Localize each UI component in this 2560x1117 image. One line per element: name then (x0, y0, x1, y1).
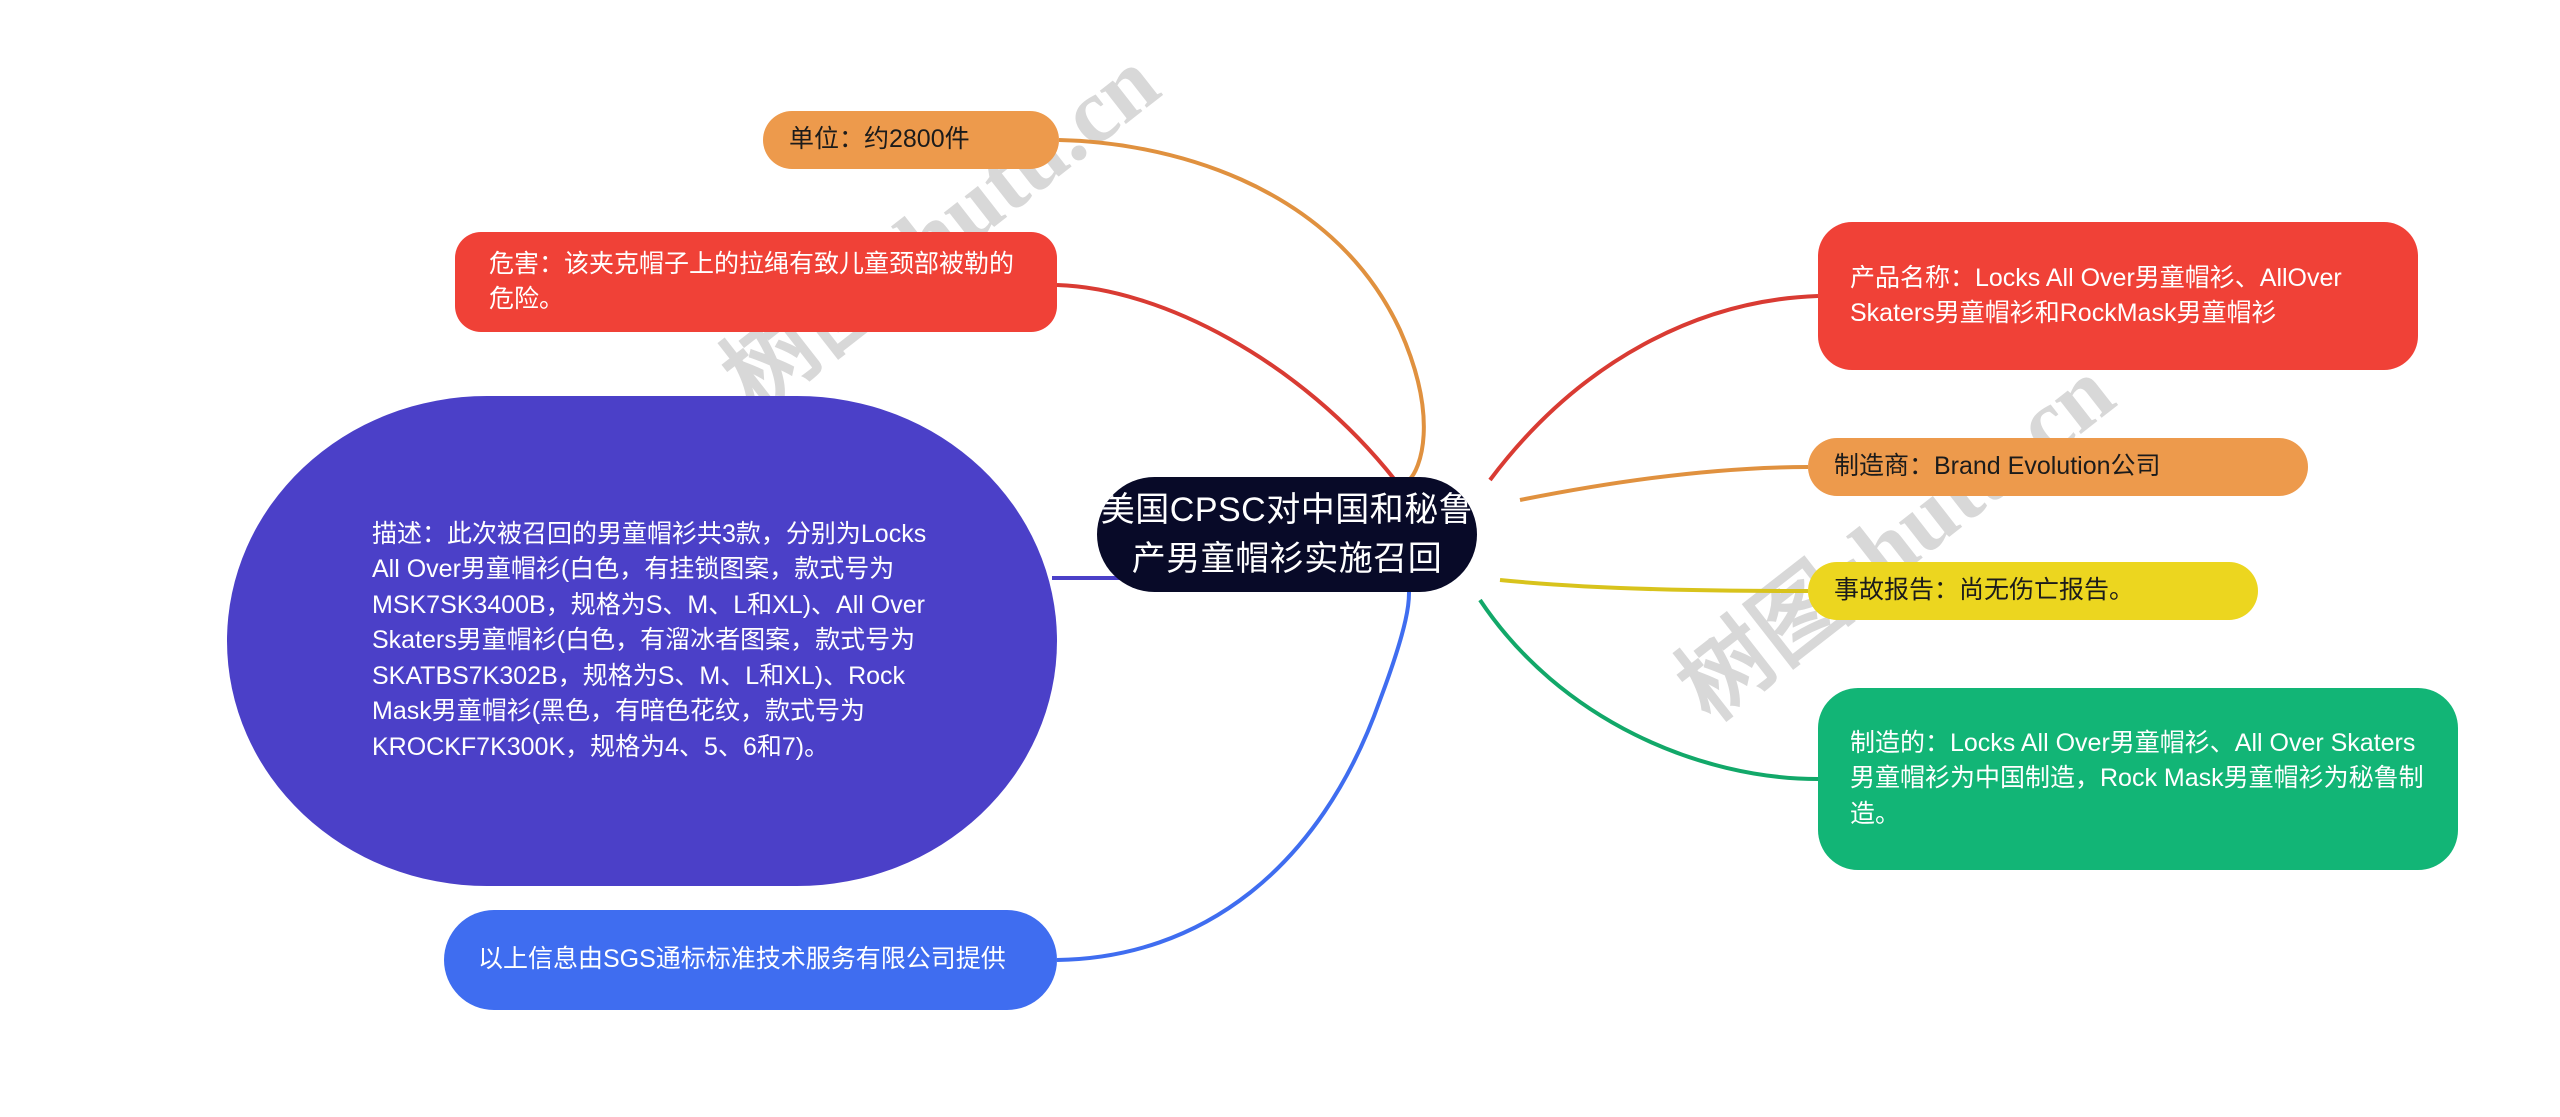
watermark-left: 树图shutu.cn (690, 11, 1181, 435)
branch-node-manufacturer-label: 制造商：Brand Evolution公司 (1834, 449, 2282, 485)
branch-node-source-label: 以上信息由SGS通标标准技术服务有限公司提供 (478, 942, 1023, 978)
branch-node-hazard[interactable]: 危害：该夹克帽子上的拉绳有致儿童颈部被勒的危险。 (455, 232, 1057, 332)
mindmap-canvas: 树图shutu.cn 树图shutu.cn 美国CPSC对中国和秘鲁产男童帽衫实… (0, 0, 2560, 1117)
branch-node-incident-report-label: 事故报告：尚无伤亡报告。 (1834, 573, 2232, 609)
edge-root-to-source (1057, 592, 1409, 960)
edge-root-to-manufacturer (1520, 467, 1808, 500)
branch-node-hazard-label: 危害：该夹克帽子上的拉绳有致儿童颈部被勒的危险。 (489, 247, 1023, 318)
branch-node-manufacturer[interactable]: 制造商：Brand Evolution公司 (1808, 438, 2308, 496)
branch-node-units[interactable]: 单位：约2800件 (763, 111, 1059, 169)
branch-node-source[interactable]: 以上信息由SGS通标标准技术服务有限公司提供 (444, 910, 1057, 1010)
edge-root-to-incidents (1500, 580, 1808, 591)
root-node-label: 美国CPSC对中国和秘鲁产男童帽衫实施召回 (1097, 486, 1477, 583)
branch-node-units-label: 单位：约2800件 (789, 122, 1033, 158)
branch-node-description-label: 描述：此次被召回的男童帽衫共3款，分别为Locks All Over男童帽衫(白… (372, 517, 947, 766)
branch-node-product-name-label: 产品名称：Locks All Over男童帽衫、AllOver Skaters男… (1850, 261, 2386, 332)
edge-root-to-madein (1480, 600, 1818, 779)
watermark-right: 树图shutu.cn (1645, 321, 2136, 745)
edge-root-to-product (1490, 296, 1818, 480)
branch-node-product-name[interactable]: 产品名称：Locks All Over男童帽衫、AllOver Skaters男… (1818, 222, 2418, 370)
root-node[interactable]: 美国CPSC对中国和秘鲁产男童帽衫实施召回 (1097, 477, 1477, 592)
branch-node-made-in[interactable]: 制造的：Locks All Over男童帽衫、All Over Skaters男… (1818, 688, 2458, 870)
branch-node-description[interactable]: 描述：此次被召回的男童帽衫共3款，分别为Locks All Over男童帽衫(白… (227, 396, 1057, 886)
branch-node-incident-report[interactable]: 事故报告：尚无伤亡报告。 (1808, 562, 2258, 620)
edge-root-to-hazard (1057, 285, 1395, 480)
branch-node-made-in-label: 制造的：Locks All Over男童帽衫、All Over Skaters男… (1850, 726, 2426, 833)
edge-root-to-units (1059, 140, 1424, 480)
